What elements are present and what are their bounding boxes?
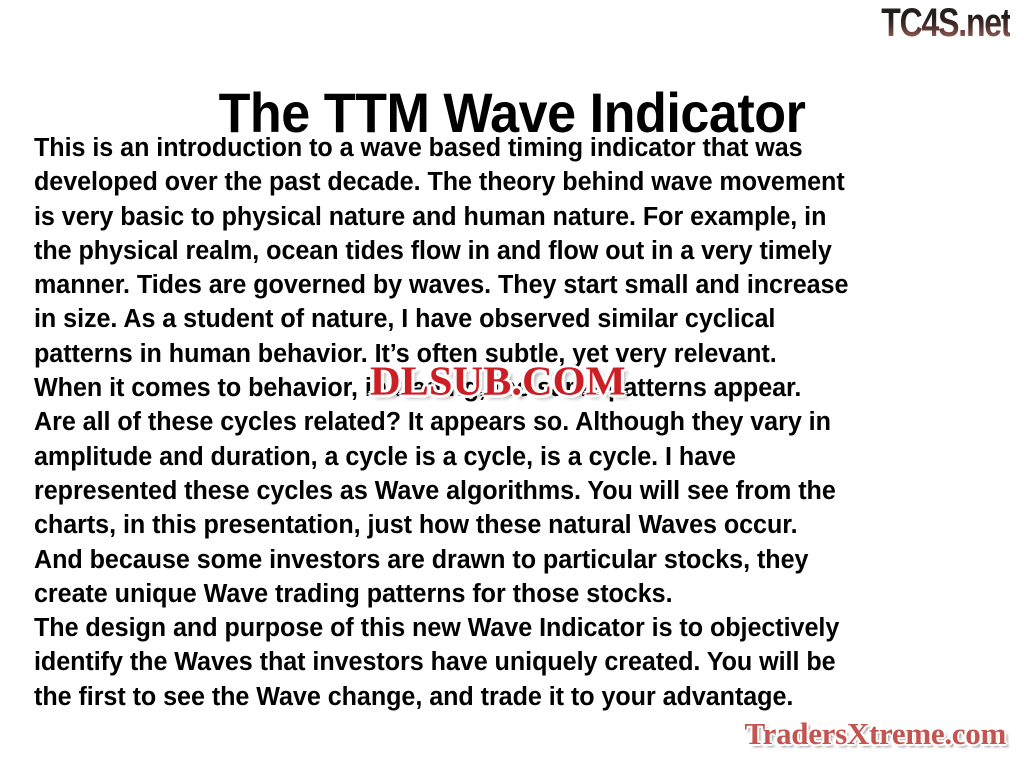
body-copy: This is an introduction to a wave based … xyxy=(34,131,987,714)
body-line: the physical realm, ocean tides flow in … xyxy=(34,234,987,268)
dlsub-watermark: DLSUB.COM xyxy=(370,361,626,402)
body-line: manner. Tides are governed by waves. The… xyxy=(34,268,987,302)
body-line: create unique Wave trading patterns for … xyxy=(34,577,987,611)
body-line: And because some investors are drawn to … xyxy=(34,543,987,577)
body-line: the first to see the Wave change, and tr… xyxy=(34,680,987,714)
body-line: Are all of these cycles related? It appe… xyxy=(34,405,987,439)
body-line: represented these cycles as Wave algorit… xyxy=(34,474,987,508)
body-line: This is an introduction to a wave based … xyxy=(34,131,987,165)
body-line: in size. As a student of nature, I have … xyxy=(34,302,987,336)
tc4s-brand-logo: TC4S.net xyxy=(881,2,1010,44)
paragraph-2: The design and purpose of this new Wave … xyxy=(34,611,987,714)
body-line: developed over the past decade. The theo… xyxy=(34,165,987,199)
tradersxtreme-brand-logo: TradersXtreme.com xyxy=(745,717,1006,750)
body-line: charts, in this presentation, just how t… xyxy=(34,508,987,542)
body-line: The design and purpose of this new Wave … xyxy=(34,611,987,645)
body-line: identify the Waves that investors have u… xyxy=(34,645,987,679)
body-line: amplitude and duration, a cycle is a cyc… xyxy=(34,440,987,474)
body-line: is very basic to physical nature and hum… xyxy=(34,200,987,234)
slide-canvas: TC4S.net The TTM Wave Indicator This is … xyxy=(0,0,1024,768)
